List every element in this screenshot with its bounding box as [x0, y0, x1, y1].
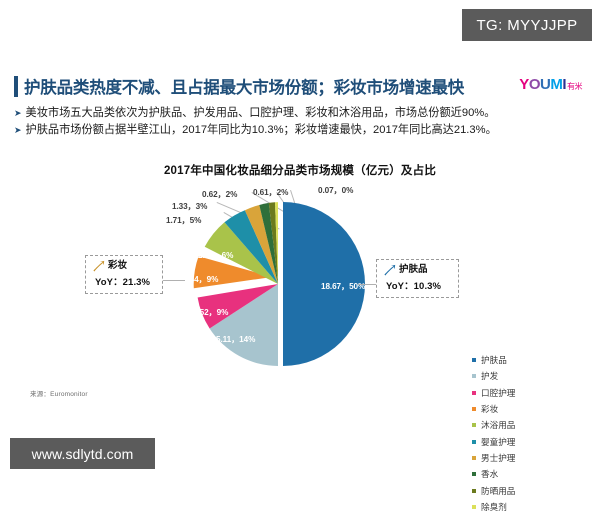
bullet-text: 护肤品市场份额占据半壁江山，2017年同比为10.3%；彩妆增速最快，2017年… [26, 122, 497, 139]
logo-cn-suffix: 有米 [567, 81, 582, 92]
legend-item-menscare[interactable]: 男士护理 [472, 450, 587, 466]
legend-swatch-icon [472, 391, 476, 395]
legend-item-babycare[interactable]: 婴童护理 [472, 433, 587, 449]
logo-letter-u: U [540, 76, 550, 93]
callout-connector-right [358, 284, 378, 285]
legend-label: 口腔护理 [481, 387, 515, 399]
legend-swatch-icon [472, 407, 476, 411]
slice-label-makeup: 3.44，9% [183, 273, 218, 285]
bullet-marker-icon: ➤ [14, 105, 22, 122]
legend-swatch-icon [472, 358, 476, 362]
callout-name: 护肤品 [399, 264, 428, 276]
slice-label-bathproducts: 2.20，6% [198, 249, 233, 261]
logo-letter-i: I [562, 76, 566, 93]
legend-label: 除臭剂 [481, 501, 507, 513]
legend-item-makeup[interactable]: 彩妆 [472, 401, 587, 417]
legend-swatch-icon [472, 489, 476, 493]
slice-label-oralcare: 3.52，9% [193, 306, 228, 318]
logo-letter-o: O [529, 76, 540, 93]
legend-swatch-icon [472, 440, 476, 444]
legend-label: 护发 [481, 370, 498, 382]
legend-label: 沐浴用品 [481, 419, 515, 431]
legend-label: 香水 [481, 468, 498, 480]
slice-label-sunscreen: 0.61，2% [253, 186, 288, 198]
logo-letter-m: M [550, 76, 562, 93]
bullet-text: 美妆市场五大品类依次为护肤品、护发用品、口腔护理、彩妆和沐浴用品，市场总份额近9… [26, 105, 496, 122]
legend-item-bathproducts[interactable]: 沐浴用品 [472, 417, 587, 433]
slice-label-menscare: 1.33，3% [172, 200, 207, 212]
slice-label-perfume: 0.62，2% [202, 188, 237, 200]
legend-swatch-icon [472, 472, 476, 476]
youmi-logo: Y O U M I 有米 [519, 76, 582, 93]
legend-swatch-icon [472, 456, 476, 460]
slice-label-skincare: 18.67，50% [321, 280, 365, 292]
callout-skincare: 护肤品 YoY：10.3% [376, 259, 459, 298]
bullet-item: ➤ 护肤品市场份额占据半壁江山，2017年同比为10.3%；彩妆增速最快，201… [14, 122, 592, 139]
slice-label-babycare: 1.71，5% [166, 214, 201, 226]
callout-yoy: YoY：21.3% [92, 274, 155, 288]
legend-item-oralcare[interactable]: 口腔护理 [472, 385, 587, 401]
growth-arrow-icon [383, 264, 396, 276]
bullet-marker-icon: ➤ [14, 122, 22, 139]
callout-connector-left [163, 280, 185, 281]
legend-label: 婴童护理 [481, 436, 515, 448]
legend-label: 护肤品 [481, 354, 507, 366]
callout-title-row: 护肤品 [383, 264, 451, 276]
legend-label: 男士护理 [481, 452, 515, 464]
callout-yoy: YoY：10.3% [383, 278, 451, 292]
growth-arrow-icon [92, 260, 105, 272]
callout-title-row: 彩妆 [92, 260, 155, 272]
legend-item-skincare[interactable]: 护肤品 [472, 352, 587, 368]
legend-label: 彩妆 [481, 403, 498, 415]
legend-swatch-icon [472, 423, 476, 427]
slice-label-deodorant: 0.07，0% [318, 184, 353, 196]
telegram-watermark: TG: MYYJJPP [462, 9, 592, 41]
slide-header: 护肤品类热度不减、且占据最大市场份额；彩妆市场增速最快 Y O U M I 有米 [14, 74, 590, 100]
legend-item-sunscreen[interactable]: 防晒用品 [472, 482, 587, 498]
source-note: 来源：Euromonitor [30, 388, 88, 398]
callout-name: 彩妆 [108, 260, 127, 272]
legend-swatch-icon [472, 374, 476, 378]
legend-item-deodorant[interactable]: 除臭剂 [472, 499, 587, 515]
legend-swatch-icon [472, 505, 476, 509]
slice-label-haircare: 5.11，14% [216, 333, 255, 345]
callout-makeup: 彩妆 YoY：21.3% [85, 255, 163, 294]
site-watermark: www.sdlytd.com [10, 438, 155, 469]
page-title: 护肤品类热度不减、且占据最大市场份额；彩妆市场增速最快 [24, 74, 464, 98]
legend-item-haircare[interactable]: 护发 [472, 368, 587, 384]
bullet-item: ➤ 美妆市场五大品类依次为护肤品、护发用品、口腔护理、彩妆和沐浴用品，市场总份额… [14, 105, 592, 122]
chart-title: 2017年中国化妆品细分品类市场规模（亿元）及占比 [0, 162, 600, 178]
legend-label: 防晒用品 [481, 485, 515, 497]
bullet-list: ➤ 美妆市场五大品类依次为护肤品、护发用品、口腔护理、彩妆和沐浴用品，市场总份额… [14, 105, 592, 139]
chart-legend: 护肤品 护发 口腔护理 彩妆 沐浴用品 婴童护理 男士护理 香水 [472, 352, 587, 515]
title-accent-bar [14, 76, 18, 97]
logo-letter-y: Y [519, 76, 529, 93]
